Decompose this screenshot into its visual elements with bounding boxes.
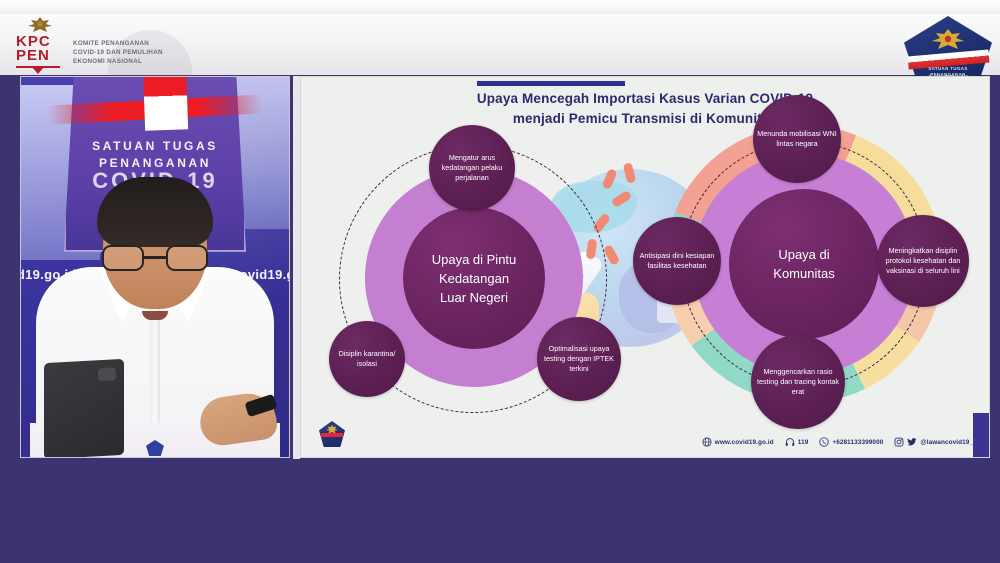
whatsapp-icon xyxy=(819,437,829,447)
contact-hotline-label: 119 xyxy=(798,439,809,446)
right-node-right[interactable]: Meningkatkan disiplin protokol kesehatan… xyxy=(877,215,969,307)
tablet-camera-icon xyxy=(98,367,116,381)
right-hub-line1: Upaya di xyxy=(773,245,834,264)
backdrop-line1: SATUAN TUGAS xyxy=(21,138,289,155)
diagram-arrival-gate: Upaya di Pintu Kedatangan Luar Negeri Me… xyxy=(319,121,639,441)
left-node-top[interactable]: Mengatur arus kedatangan pelaku perjalan… xyxy=(429,125,515,211)
speaker-figure xyxy=(30,157,280,457)
contact-website-label: www.covid19.go.id xyxy=(715,439,774,446)
kpcpen-underline xyxy=(16,66,60,71)
speaker-hair xyxy=(97,177,213,247)
speaker-video-panel[interactable]: SATUAN TUGAS PENANGANAN COVID-19 id19.go… xyxy=(20,76,290,458)
contact-social-label: @lawancovid19_id xyxy=(920,439,979,446)
right-node-top[interactable]: Menunda mobilisasi WNI lintas negara xyxy=(753,95,841,183)
contact-hotline[interactable]: 119 xyxy=(785,437,809,447)
slide-satgas-badge xyxy=(319,421,345,447)
headset-icon xyxy=(785,437,795,447)
kpcpen-acronym-line2: PEN xyxy=(16,49,51,63)
presentation-slide[interactable]: Upaya Mencegah Importasi Kasus Varian CO… xyxy=(300,76,990,458)
satgas-line1: SATUAN TUGAS xyxy=(928,66,967,71)
contact-whatsapp-label: +6281133399000 xyxy=(832,439,883,446)
left-hub-line2: Kedatangan xyxy=(432,269,517,288)
kpcpen-subtitle-line2: COVID-19 DAN PEMULIHAN xyxy=(73,48,163,57)
kpcpen-acronym: KPC PEN xyxy=(16,35,51,63)
kpcpen-logo: KPC PEN KOMITE PENANGANAN COVID-19 DAN P… xyxy=(14,16,163,72)
right-hub-node[interactable]: Upaya di Komunitas xyxy=(729,189,879,339)
header-sheen xyxy=(0,0,1000,14)
indonesia-flag-icon xyxy=(143,76,188,131)
kpcpen-subtitle: KOMITE PENANGANAN COVID-19 DAN PEMULIHAN… xyxy=(73,39,163,72)
globe-icon xyxy=(702,437,712,447)
left-node-bottom-right[interactable]: Optimalisasi upaya testing dengan IPTEK … xyxy=(537,317,621,401)
left-hub-node[interactable]: Upaya di Pintu Kedatangan Luar Negeri xyxy=(403,207,545,349)
garuda-icon xyxy=(27,16,53,34)
slide-badge-ribbon xyxy=(321,433,343,437)
glasses-lens-left xyxy=(102,245,144,271)
garuda-icon xyxy=(931,28,965,52)
kpcpen-mark: KPC PEN xyxy=(14,16,66,72)
eyeglasses-icon xyxy=(102,245,208,271)
screen-root: KPC PEN KOMITE PENANGANAN COVID-19 DAN P… xyxy=(0,0,1000,563)
instagram-icon xyxy=(894,437,904,447)
kpcpen-subtitle-line1: KOMITE PENANGANAN xyxy=(73,39,163,48)
glasses-bridge xyxy=(144,256,166,259)
slide-right-accent-bar xyxy=(973,413,989,458)
header-band: KPC PEN KOMITE PENANGANAN COVID-19 DAN P… xyxy=(0,0,1000,75)
contact-footer: www.covid19.go.id 119 +6281133399000 xyxy=(702,437,979,447)
kpcpen-subtitle-line3: EKONOMI NASIONAL xyxy=(73,57,163,66)
diagram-community: Upaya di Komunitas Menunda mobilisasi WN… xyxy=(639,99,969,429)
left-hub-line3: Luar Negeri xyxy=(432,288,517,307)
tablet-device xyxy=(44,359,124,458)
glasses-lens-right xyxy=(166,245,208,271)
panel-divider xyxy=(293,76,300,459)
right-node-left[interactable]: Antisipasi dini kesiapan fasilitas keseh… xyxy=(633,217,721,305)
right-hub-line2: Komunitas xyxy=(773,264,834,283)
left-node-bottom-left[interactable]: Disiplin karantina/ isolasi xyxy=(329,321,405,397)
right-node-bottom[interactable]: Menggencarkan rasio testing dan tracing … xyxy=(751,335,845,429)
contact-whatsapp[interactable]: +6281133399000 xyxy=(819,437,883,447)
left-hub-line1: Upaya di Pintu xyxy=(432,250,517,269)
title-accent-rule xyxy=(477,81,625,86)
contact-social[interactable]: @lawancovid19_id xyxy=(894,437,979,447)
contact-website[interactable]: www.covid19.go.id xyxy=(702,437,774,447)
twitter-icon xyxy=(907,437,917,447)
